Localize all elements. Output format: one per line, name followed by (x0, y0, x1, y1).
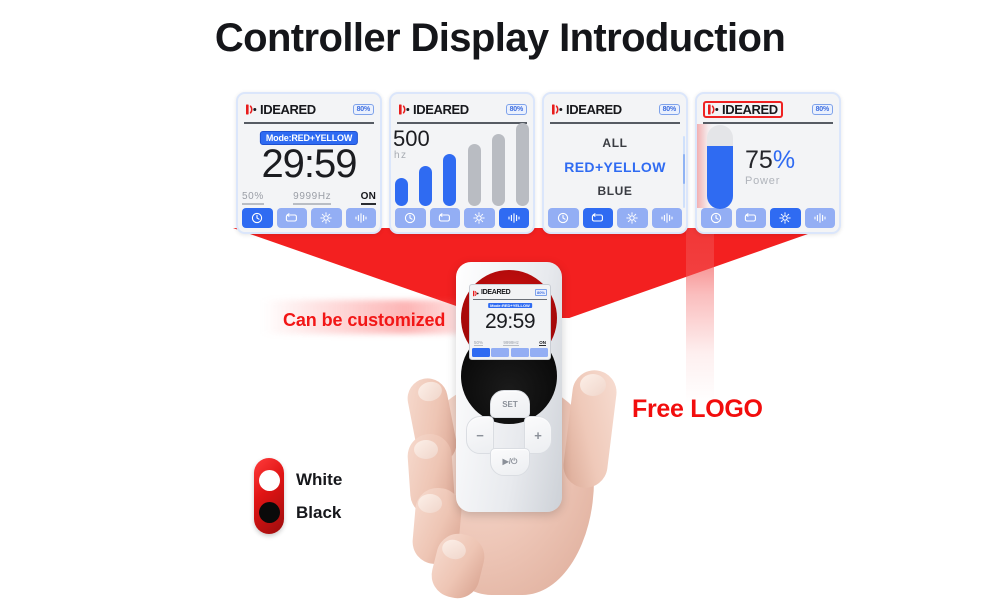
play-power-button[interactable]: ▶/⏻ (490, 448, 530, 476)
screen-header: IDEARED 80% (703, 97, 833, 124)
battery-badge: 80% (659, 104, 680, 115)
brand-name: IDEARED (481, 289, 510, 296)
nav-button-clock[interactable] (472, 348, 490, 357)
frequency-bar (395, 178, 408, 206)
set-button[interactable]: SET (490, 390, 530, 418)
nav-button-waveform[interactable] (346, 208, 377, 228)
brand-logo-highlighted: IDEARED (703, 101, 783, 118)
nav-button-brightness[interactable] (464, 208, 495, 228)
nav-button-brightness[interactable] (311, 208, 342, 228)
power-percent-number: 75 (745, 146, 773, 174)
status-intensity: 50% (242, 191, 264, 205)
frequency-bar (443, 154, 456, 206)
screen-body: 75% Power (697, 124, 839, 208)
status-intensity: 50% (474, 340, 483, 346)
frequency-bar-chart[interactable] (395, 120, 529, 206)
screen-body: 500 hz (391, 124, 533, 208)
plus-label: + (534, 428, 542, 443)
power-percent: 75% (745, 148, 795, 173)
nav-button-mode[interactable] (430, 208, 461, 228)
battery-badge: 80% (353, 104, 374, 115)
mode-option-list[interactable]: ALL RED+YELLOW BLUE (544, 130, 686, 204)
nav-button-brightness[interactable] (617, 208, 648, 228)
minus-button[interactable]: − (466, 416, 494, 454)
frequency-bar (468, 144, 481, 206)
brand-name: IDEARED (566, 103, 622, 116)
screens-row: IDEARED 80% Mode:RED+YELLOW 29:59 50% 99… (236, 92, 841, 234)
button-pad: SET − + ▶/⏻ (466, 390, 552, 476)
battery-badge: 80% (506, 104, 527, 115)
brand-logo: IDEARED (550, 102, 624, 117)
timer-value: 29:59 (470, 311, 550, 332)
nav-button-waveform[interactable] (499, 208, 530, 228)
frequency-bar (516, 123, 529, 206)
minus-label: − (476, 428, 484, 443)
signal-wave-icon (708, 103, 721, 116)
nav-button-mode[interactable] (277, 208, 308, 228)
power-control: 75% Power (697, 128, 839, 206)
beam-vertical-logo-pointer (686, 228, 714, 403)
brand-name: IDEARED (413, 103, 469, 116)
signal-wave-icon (473, 284, 480, 302)
device-in-hand: IDEARED 80% Mode:RED+YELLOW 29:59 50% 99… (398, 262, 618, 600)
screen-header: IDEARED 80% (244, 97, 374, 124)
nav-button-clock[interactable] (395, 208, 426, 228)
mode-option-blue[interactable]: BLUE (544, 184, 686, 198)
nav-button-waveform[interactable] (530, 348, 548, 357)
color-swatch-pill[interactable] (254, 458, 284, 534)
signal-wave-icon (552, 103, 565, 116)
mode-badge: Mode:RED+YELLOW (488, 303, 532, 308)
controller-device[interactable]: IDEARED 80% Mode:RED+YELLOW 29:59 50% 99… (456, 262, 562, 512)
power-slider[interactable] (707, 125, 733, 209)
nav-button-clock[interactable] (701, 208, 732, 228)
status-frequency: 9999Hz (293, 191, 331, 205)
signal-wave-icon (399, 103, 412, 116)
screen-timer[interactable]: IDEARED 80% Mode:RED+YELLOW 29:59 50% 99… (236, 92, 382, 234)
screen-navbar (242, 208, 376, 228)
fingernail (414, 440, 438, 459)
nav-button-mode[interactable] (583, 208, 614, 228)
device-screen-header: IDEARED 80% (473, 286, 547, 300)
color-label-white: White (296, 471, 342, 488)
brand-logo: IDEARED (397, 102, 471, 117)
color-label-black: Black (296, 504, 342, 521)
scrollbar-thumb[interactable] (683, 154, 685, 184)
brand-name: IDEARED (260, 103, 316, 116)
screen-mode-list[interactable]: IDEARED 80% ALL RED+YELLOW BLUE (542, 92, 688, 234)
power-readout: 75% Power (745, 148, 795, 187)
nav-button-waveform[interactable] (652, 208, 683, 228)
battery-badge: 80% (812, 104, 833, 115)
mode-option-all[interactable]: ALL (544, 136, 686, 150)
scrollbar[interactable] (683, 136, 685, 208)
battery-badge: 80% (535, 289, 547, 296)
poster-canvas: Controller Display Introduction IDEARE (0, 0, 1000, 600)
percent-sign: % (773, 146, 795, 174)
status-power-state: ON (361, 191, 376, 205)
nav-button-brightness[interactable] (511, 348, 529, 357)
label-free-logo: Free LOGO (632, 395, 763, 424)
nav-button-clock[interactable] (548, 208, 579, 228)
brand-logo: IDEARED (473, 284, 510, 302)
screen-navbar (548, 208, 682, 228)
frequency-bar (492, 134, 505, 206)
color-dot-white[interactable] (259, 470, 280, 491)
status-row: 50% 9999Hz ON (474, 340, 546, 346)
device-screen-navbar (472, 348, 548, 357)
frequency-bar (419, 166, 432, 206)
screen-header: IDEARED 80% (550, 97, 680, 124)
power-caption: Power (745, 176, 795, 187)
mode-option-red-yellow[interactable]: RED+YELLOW (544, 159, 686, 175)
fingernail (418, 494, 442, 513)
nav-button-mode[interactable] (491, 348, 509, 357)
status-row: 50% 9999Hz ON (242, 191, 376, 205)
status-power-state: ON (539, 340, 546, 346)
screen-navbar (395, 208, 529, 228)
color-dot-black[interactable] (259, 502, 280, 523)
signal-wave-icon (246, 103, 259, 116)
nav-button-mode[interactable] (736, 208, 767, 228)
status-frequency: 9999Hz (503, 340, 519, 346)
page-title: Controller Display Introduction (0, 16, 1000, 61)
power-slider-fill (707, 146, 733, 209)
brand-name: IDEARED (722, 103, 778, 116)
color-options: White Black (254, 458, 342, 534)
color-option-labels: White Black (296, 458, 342, 534)
screen-body: ALL RED+YELLOW BLUE (544, 124, 686, 208)
timer-value: 29:59 (238, 144, 380, 184)
nav-button-clock[interactable] (242, 208, 273, 228)
brand-logo: IDEARED (244, 102, 318, 117)
screen-body: Mode:RED+YELLOW 29:59 50% 9999Hz ON (238, 124, 380, 208)
screen-frequency[interactable]: IDEARED 80% 500 hz (389, 92, 535, 234)
screen-power[interactable]: IDEARED 80% 75% Power (695, 92, 841, 234)
nav-button-waveform[interactable] (805, 208, 836, 228)
fingernail (580, 374, 606, 396)
device-screen-body: Mode:RED+YELLOW 29:59 50% 9999Hz ON (470, 300, 550, 348)
nav-button-brightness[interactable] (770, 208, 801, 228)
screen-navbar (701, 208, 835, 228)
device-screen[interactable]: IDEARED 80% Mode:RED+YELLOW 29:59 50% 99… (469, 284, 551, 360)
